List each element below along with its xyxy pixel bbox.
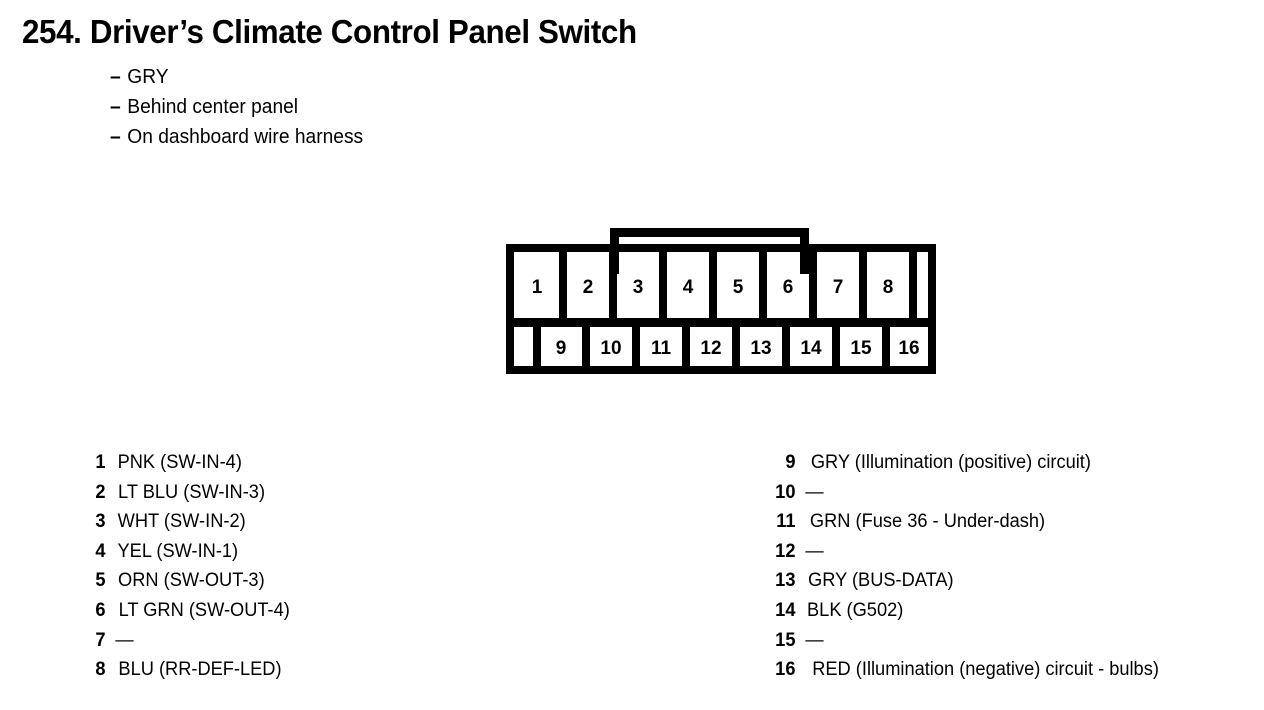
connector-info-item-location: –Behind center panel [110,92,363,122]
pin-legend-description: LT GRN (SW-OUT-4) [119,600,290,622]
pin-legend-row: 13 GRY (BUS-DATA) [770,570,1166,600]
pin-number-7: 7 [833,277,844,298]
bullet-dash: – [110,122,127,152]
pin-legend-description: BLK (G502) [807,600,903,622]
pin-legend-row: 9 GRY (Illumination (positive) circuit) [770,452,1166,482]
pin-legend-description: — [805,482,823,504]
page-title: 254. Driver’s Climate Control Panel Swit… [22,12,637,52]
bullet-dash: – [110,92,127,122]
pin-legend-number: 11 [771,511,796,533]
pin-legend-row: 16 RED (Illumination (negative) circuit … [770,659,1166,689]
pin-legend-row: 6 LT GRN (SW-OUT-4) [80,600,293,630]
connector-info-label: Behind center panel [127,96,298,118]
connector-top-row: 1 2 3 4 5 6 7 8 [532,252,917,318]
pin-number-14: 14 [800,338,822,359]
pin-legend-row: 1 PNK (SW-IN-4) [80,452,293,482]
connector-info-list: –GRY –Behind center panel –On dashboard … [110,62,374,152]
pin-legend-row: 10 — [770,482,1166,512]
pin-legend-description: — [805,541,823,563]
connector-info-item-color: –GRY [110,62,363,92]
pin-legend-description: RED (Illumination (negative) circuit - b… [812,659,1159,681]
pin-number-2: 2 [583,277,594,298]
pin-legend-row: 4 YEL (SW-IN-1) [80,541,293,571]
pin-number-9: 9 [556,338,567,359]
connector-info-label: On dashboard wire harness [127,126,363,148]
connector-info-item-harness: –On dashboard wire harness [110,122,363,152]
pin-legend-number: 2 [81,482,106,504]
pin-legend-row: 8 BLU (RR-DEF-LED) [80,659,293,689]
pin-legend-number: 3 [81,511,106,533]
connector-svg: 1 2 3 4 5 6 7 8 9 10 11 12 13 14 15 1 [506,228,936,374]
pin-number-6: 6 [783,277,794,298]
pin-legend-left: 1 PNK (SW-IN-4) 2 LT BLU (SW-IN-3) 3 WHT… [80,452,293,689]
bullet-dash: – [110,62,127,92]
connector-diagram: 1 2 3 4 5 6 7 8 9 10 11 12 13 14 15 1 [506,228,936,374]
pin-number-10: 10 [600,338,621,359]
pin-number-1: 1 [532,277,543,298]
pin-legend-description: BLU (RR-DEF-LED) [118,659,281,681]
pin-legend-number: 15 [771,630,796,652]
pin-number-11: 11 [651,338,672,359]
pin-number-13: 13 [750,338,771,359]
pin-legend-row: 2 LT BLU (SW-IN-3) [80,482,293,512]
connector-info-label: GRY [127,66,168,88]
pin-number-5: 5 [733,277,744,298]
pin-number-16: 16 [898,338,919,359]
pin-legend-number: 4 [81,541,106,563]
pin-legend-row: 3 WHT (SW-IN-2) [80,511,293,541]
pin-legend-row: 15 — [770,630,1166,660]
pin-legend-row: 14 BLK (G502) [770,600,1166,630]
pin-legend-description: GRN (Fuse 36 - Under-dash) [810,511,1045,533]
pin-legend-description: LT BLU (SW-IN-3) [118,482,265,504]
pin-number-12: 12 [700,338,721,359]
pin-legend-row: 11 GRN (Fuse 36 - Under-dash) [770,511,1166,541]
pin-legend-row: 7 — [80,630,293,660]
pin-legend-number: 10 [771,482,796,504]
pin-legend-number: 13 [771,570,796,592]
pin-legend-description: — [805,630,823,652]
pin-legend-number: 16 [771,659,796,681]
connector-bottom-row: 9 10 11 12 13 14 15 16 [533,327,920,366]
pin-legend-description: WHT (SW-IN-2) [118,511,246,533]
pin-legend-description: GRY (BUS-DATA) [808,570,954,592]
pin-legend-number: 5 [81,570,106,592]
pin-legend-number: 12 [771,541,796,563]
pin-number-8: 8 [883,277,894,298]
pin-legend-number: 1 [81,452,106,474]
pin-legend-number: 7 [81,630,106,652]
pin-legend-row: 12 — [770,541,1166,571]
pin-legend-description: — [115,630,133,652]
pin-legend-number: 8 [81,659,106,681]
pin-legend-number: 14 [771,600,796,622]
pin-number-4: 4 [683,277,694,298]
pin-legend-row: 5 ORN (SW-OUT-3) [80,570,293,600]
pin-legend-description: PNK (SW-IN-4) [118,452,242,474]
pin-legend-description: GRY (Illumination (positive) circuit) [811,452,1091,474]
pin-legend-description: YEL (SW-IN-1) [118,541,239,563]
pin-legend-description: ORN (SW-OUT-3) [118,570,265,592]
pin-legend-right: 9 GRY (Illumination (positive) circuit) … [770,452,1166,689]
pin-number-3: 3 [633,277,644,298]
pin-legend-number: 9 [771,452,796,474]
pin-number-15: 15 [850,338,872,359]
pin-legend-number: 6 [81,600,106,622]
